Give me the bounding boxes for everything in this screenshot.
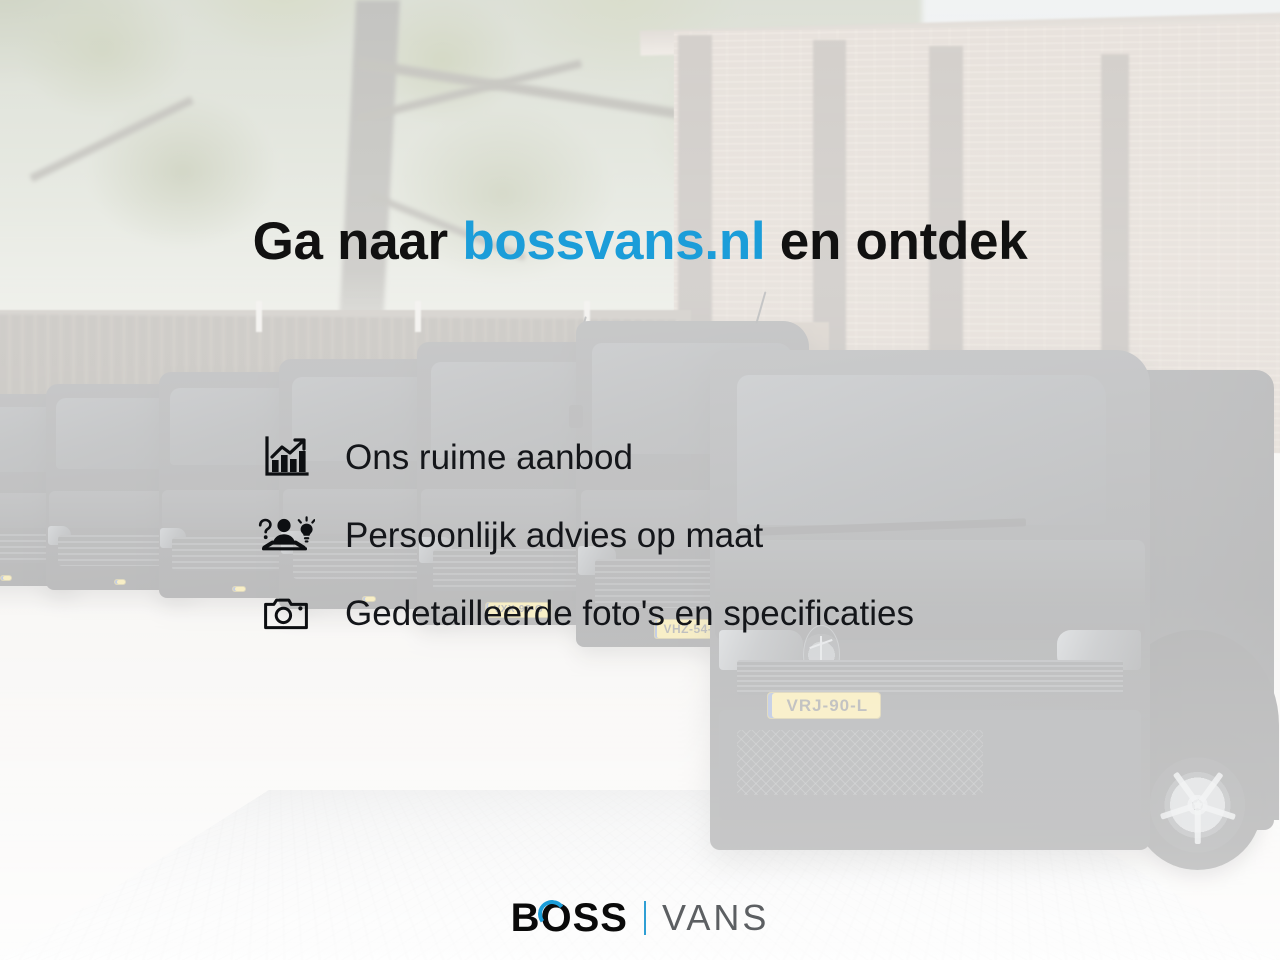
promo-banner: VXX-98-G VHZ-54-K: [0, 0, 1280, 960]
headline-brand-link[interactable]: bossvans.nl: [462, 212, 765, 271]
headline-suffix: en ontdek: [765, 212, 1027, 271]
logo-boss-label: BOSS: [511, 896, 628, 940]
feature-label: Gedetailleerde foto's en specificaties: [345, 596, 914, 631]
banner-content: Ga naar bossvans.nl en ontdek Ons r: [0, 0, 1280, 960]
feature-label: Ons ruime aanbod: [345, 440, 633, 475]
feature-list: Ons ruime aanbod: [255, 418, 1155, 652]
logo-boss-text: BOSS: [511, 898, 628, 938]
boss-vans-logo[interactable]: BOSS VANS: [0, 898, 1280, 938]
feature-item: Persoonlijk advies op maat: [255, 496, 1155, 574]
person-advice-icon: [255, 509, 317, 561]
feature-label: Persoonlijk advies op maat: [345, 518, 763, 553]
bar-chart-growth-icon: [255, 431, 317, 483]
feature-item: Gedetailleerde foto's en specificaties: [255, 574, 1155, 652]
headline-prefix: Ga naar: [253, 212, 463, 271]
logo-vans-label: VANS: [662, 900, 769, 936]
feature-item: Ons ruime aanbod: [255, 418, 1155, 496]
headline: Ga naar bossvans.nl en ontdek: [0, 214, 1280, 270]
logo-divider: [644, 901, 646, 935]
camera-icon: [255, 587, 317, 639]
